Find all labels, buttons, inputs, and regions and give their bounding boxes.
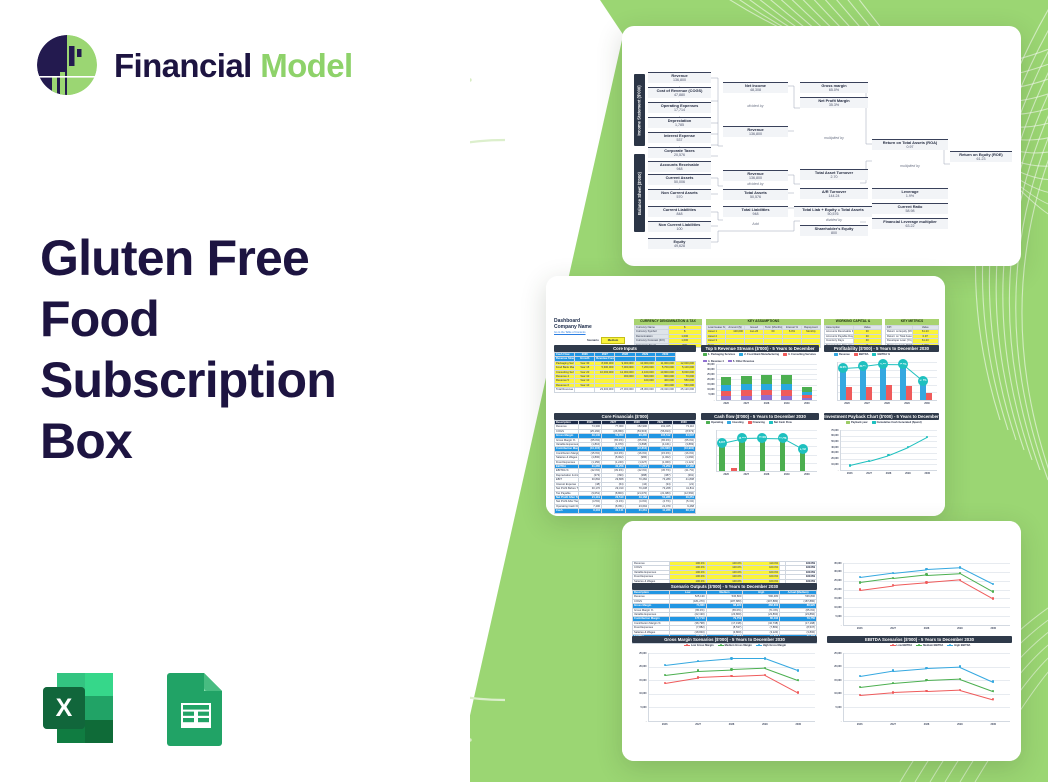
- cash-flow-title: Cash flow ($'000) - 5 Years to December …: [701, 413, 819, 420]
- legend-item: High EBITDA: [947, 644, 970, 647]
- table-cell: Return on Total Assets (ROA): [886, 334, 913, 338]
- legend-item: Net Cash Flow: [769, 421, 792, 424]
- table-cell: Loan/Lease Name: [707, 326, 726, 330]
- legend-label: EBITDA %: [877, 353, 890, 356]
- node-interest-expense: Interest Expense537: [648, 132, 711, 143]
- legend-swatch: [739, 353, 743, 355]
- legend-label: Medium EBITDA: [923, 644, 943, 647]
- legend-item: Operating: [706, 421, 723, 424]
- table-cell: Contribution Margin: [555, 447, 579, 451]
- legend-label: High EBITDA: [954, 644, 970, 647]
- legend-swatch: [703, 353, 707, 355]
- title-line-2: Food: [40, 289, 440, 350]
- table-cell: [575, 388, 595, 392]
- node-net-profit-margin: Net Profit Margin35.3%: [800, 97, 868, 108]
- scenario-outputs-title: Scenario Outputs ($'000) - 5 Years to De…: [632, 583, 817, 590]
- gross-margin-scenarios-chart: 25,00020,00015,00010,0005,000-2026202720…: [632, 651, 817, 729]
- node-leverage: Leverage1.9%: [872, 188, 948, 199]
- operator-divided-by-3: divided by: [800, 218, 868, 222]
- dupont-analysis-screenshot[interactable]: Income Statement ($'000) Balance Sheet (…: [622, 26, 1021, 266]
- scenario-actual-table: 100.0%100.0%100.0%100.0%100.0%: [785, 561, 817, 584]
- legend-swatch: [769, 421, 773, 423]
- table-cell: Consulting Services: [555, 370, 575, 374]
- operator-add: Add: [723, 222, 788, 226]
- core-inputs-table: Cash Flow20262027202820292030Revenue Str…: [554, 352, 696, 393]
- table-cell: Net Profit After Tax %: [555, 500, 579, 504]
- financial-model-logo-icon: [34, 32, 100, 98]
- legend-label: Revenue: [839, 353, 850, 356]
- node-opex: Operating Expenses17,714: [648, 102, 711, 113]
- core-financials-title: Core Financials ($'000): [554, 413, 696, 420]
- table-cell: Revenue Streams: [555, 357, 575, 361]
- legend-label: Investing: [732, 421, 743, 424]
- cash-flow-chart: 202620272028202920308,40410,25810,46110,…: [703, 428, 819, 478]
- legend-label: EBITDA: [859, 353, 869, 356]
- poster-canvas: Financial Model Gluten Free Food Subscri…: [0, 0, 1048, 782]
- node-roa: Return on Total Assets (ROA)0.97: [872, 139, 948, 150]
- node-total-assets: Total Assets50,576: [723, 189, 788, 200]
- scenario-selector[interactable]: Medium: [601, 337, 625, 344]
- legend-swatch: [846, 421, 850, 423]
- table-cell: Gross Margin %: [555, 438, 579, 442]
- title-line-3: Subscription: [40, 350, 440, 411]
- node-depreciation: Depreciation1,785: [648, 117, 711, 128]
- node-non-current-liabilities: Non Current Liabilities100: [648, 221, 711, 232]
- operator-multiplied-by: multiplied by: [800, 136, 868, 140]
- table-cell: Salaries & Wages: [555, 456, 579, 460]
- legend-label: 3. Consulting Services: [788, 353, 816, 356]
- legend-swatch: [706, 421, 710, 423]
- brand-wordmark: Financial Model: [114, 49, 353, 82]
- table-cell: Contribution Margin %: [555, 451, 579, 455]
- operator-divided-by-2: divided by: [723, 182, 788, 186]
- key-assumptions-header: KEY ASSUMPTIONS: [706, 319, 821, 325]
- legend-swatch: [748, 421, 752, 423]
- table-cell: Currency Forecast (F/X): [635, 339, 669, 343]
- legend-swatch: [947, 645, 953, 646]
- legend-swatch: [890, 645, 896, 646]
- node-current-liabilities: Current Liabilities848: [648, 206, 711, 217]
- node-net-income: Net Income48,308: [723, 82, 788, 93]
- currency-denomination-header: CURRENCY DENOMINATION & TAX: [634, 319, 702, 325]
- table-cell: Revenue Forecast for years 1: [595, 357, 615, 361]
- legend-swatch: [756, 645, 762, 646]
- table-row: Cash8,40430,14131,26141,28868,132: [555, 509, 696, 513]
- legend-item: Revenue: [834, 353, 850, 356]
- svg-text:X: X: [56, 694, 73, 722]
- legend-swatch: [718, 645, 724, 646]
- legend-item: Medium EBITDA: [916, 644, 943, 647]
- node-total-liab-equity: Total Liab + Equity = Total Assets50,576: [794, 206, 872, 217]
- legend-item: Financing: [748, 421, 765, 424]
- revenue-streams-chart: 35,00030,00025,00020,00015,00010,0005,00…: [703, 362, 819, 407]
- profitability-title: Profitability ($'000) - 5 Years to Decem…: [824, 345, 939, 352]
- brand-word-model: Model: [260, 47, 352, 84]
- table-cell: Operating Cash Flows: [555, 504, 579, 508]
- investment-payback-chart: 70,00060,00050,00040,00030,00020,00010,0…: [824, 428, 939, 478]
- gross-margin-title: Gross Margin Scenarios ($'000) - 5 Years…: [632, 636, 817, 643]
- legend-item: Cumulative Cash Generated (Spend): [872, 421, 922, 424]
- table-cell: 8,404: [578, 509, 602, 513]
- legend-label: Medium Gross Margin: [725, 644, 752, 647]
- legend-swatch: [783, 353, 787, 355]
- dashboard-screenshot[interactable]: Dashboard Company Name Go to the Table o…: [546, 276, 945, 516]
- operator-multiplied-by-2: multiplied by: [872, 164, 948, 168]
- node-total-asset-turnover: Total Asset Turnover2.70: [800, 169, 868, 180]
- page-title: Gluten Free Food Subscription Box: [40, 228, 440, 472]
- legend-swatch: [727, 421, 731, 423]
- table-cell: Term (Months): [764, 326, 783, 330]
- table-cell: 27,300,000: [615, 388, 635, 392]
- legend-label: Low EBITDA: [897, 644, 913, 647]
- ebitda-title: EBITDA Scenarios ($'000) - 5 Years to De…: [827, 636, 1012, 643]
- table-cell: Food Bank Manufacturing: [555, 366, 575, 370]
- legend-item: EBITDA %: [872, 353, 890, 356]
- node-accounts-receivable: Accounts Receivable948: [648, 161, 711, 172]
- legend-label: Operating: [711, 421, 723, 424]
- node-total-liabilities: Total Liabilities948: [723, 206, 788, 217]
- table-cell: Return on Equity (ROE): [886, 330, 913, 334]
- legend-label: Cumulative Cash Generated (Spend): [877, 421, 922, 424]
- table-cell: 30,141: [602, 509, 626, 513]
- node-ar-turnover: A/R Turnover144.24: [800, 188, 868, 199]
- table-cell: 31,261: [625, 509, 649, 513]
- table-cell: Repayment: [802, 326, 821, 330]
- revenue-streams-title: Top 5 Revenue Streams ($'000) - 5 Years …: [701, 345, 819, 352]
- legend-item: 3. Consulting Services: [783, 353, 816, 356]
- legend-item: Investing: [727, 421, 743, 424]
- ebitda-scenarios-chart: 25,00020,00015,00010,0005,000-2026202720…: [827, 651, 1012, 729]
- table-cell: Developer Loan (Yrs): [886, 339, 913, 343]
- legend-swatch: [684, 645, 690, 646]
- table-cell: Variable Expenses: [555, 443, 579, 447]
- brand-word-financial: Financial: [114, 47, 260, 84]
- brand-logo: Financial Model: [34, 32, 353, 98]
- legend-swatch: [834, 353, 838, 355]
- left-content-panel: Financial Model Gluten Free Food Subscri…: [0, 0, 470, 782]
- legend-item: Low EBITDA: [890, 644, 913, 647]
- operator-divided-by: divided by: [723, 104, 788, 108]
- table-cell: 41,288: [649, 509, 673, 513]
- payback-title: Investment Payback Chart ($'000) - 5 Yea…: [824, 413, 939, 420]
- key-metrics-header: KEY METRICS: [885, 319, 939, 325]
- scenario-overview-chart: 35,00030,00025,00020,00015,00010,0005,00…: [827, 561, 1012, 633]
- node-non-current-assets: Non Current Assets570: [648, 189, 711, 200]
- legend-item: 2. Food Bank Manufacturing: [739, 353, 779, 356]
- legend-label: Payback year: [851, 421, 868, 424]
- profitability-legend: RevenueEBITDAEBITDA %: [834, 353, 939, 356]
- table-cell: Depreciation & Amortisation: [555, 473, 579, 477]
- legend-item: 1. Packaging Services: [703, 353, 735, 356]
- table-cell: 23,300,000: [595, 388, 615, 392]
- working-capital-header: WORKING CAPITAL & DEPRECIATION: [824, 319, 882, 325]
- legend-label: Financing: [753, 421, 765, 424]
- scenario-label: Scenario: [587, 338, 599, 342]
- legend-item: Medium Gross Margin: [718, 644, 752, 647]
- scenario-analysis-screenshot[interactable]: Revenue100.0%100.0%110.0%100.0%COGS100.0…: [622, 521, 1021, 761]
- table-cell: Accounts Receivable Days: [825, 330, 854, 334]
- title-line-1: Gluten Free: [40, 228, 440, 289]
- profitability-chart: 2026202720282029203042.0%39.3%42.0%45.7%…: [824, 360, 939, 407]
- node-current-ratio: Current Ratio58.98: [872, 203, 948, 214]
- ebitda-legend: Low EBITDAMedium EBITDAHigh EBITDA: [850, 644, 1010, 647]
- cash-flow-legend: OperatingInvestingFinancingNet Cash Flow: [706, 421, 819, 424]
- table-cell: 28,300,000: [635, 388, 655, 392]
- node-shareholders-equity: Shareholder's Equity800: [800, 225, 868, 236]
- legend-item: High Gross Margin: [756, 644, 786, 647]
- table-cell: Accounts Payable Days: [825, 334, 854, 338]
- legend-item: Low Gross Margin: [684, 644, 714, 647]
- table-cell: 29,320,000: [655, 388, 675, 392]
- legend-label: Net Cash Flow: [774, 421, 792, 424]
- node-financial-leverage-multiplier: Financial Leverage multiplier63.22: [872, 218, 948, 229]
- node-cogs: Cost of Revenue (COGS)47,880: [648, 87, 711, 98]
- node-roe: Return on Equity (ROE)61.23: [950, 151, 1012, 162]
- node-equity: Equity49,628: [648, 238, 711, 249]
- node-revenue: Revenue136,800: [648, 72, 711, 83]
- core-financials-table: Description20262027202820292030Revenue74…: [554, 420, 696, 514]
- dashboard-subtitle: Company Name: [554, 324, 592, 330]
- legend-swatch: [854, 353, 858, 355]
- table-cell: Net Profit After Tax: [555, 495, 579, 499]
- table-cell: Interest Expense: [555, 482, 579, 486]
- legend-label: 2. Food Bank Manufacturing: [744, 353, 779, 356]
- table-cell: 25,120,000: [675, 388, 695, 392]
- node-current-assets: Current Assets50,006: [648, 174, 711, 185]
- payback-legend: Payback yearCumulative Cash Generated (S…: [846, 421, 939, 424]
- node-revenue-3: Revenue136,800: [723, 170, 788, 181]
- core-inputs-title: Core Inputs: [554, 345, 696, 352]
- table-row: Total Revenue 23,300,00027,300,00028,300…: [555, 388, 696, 392]
- format-badges: X: [33, 663, 238, 753]
- table-cell: Cash: [555, 509, 579, 513]
- node-corporate-taxes: Corporate Taxes20,576: [648, 147, 711, 158]
- table-cell: Fixed Expenses: [555, 460, 579, 464]
- microsoft-excel-icon[interactable]: X: [33, 663, 123, 753]
- toc-link[interactable]: Go to the Table of Contents: [554, 331, 586, 334]
- node-gross-margin: Gross margin65.0%: [800, 82, 868, 93]
- legend-swatch: [872, 353, 876, 355]
- legend-item: Payback year: [846, 421, 868, 424]
- table-cell: Total Revenue: [555, 388, 575, 392]
- node-revenue-2: Revenue136,800: [723, 126, 788, 137]
- table-cell: Net Profit Before Tax: [555, 487, 579, 491]
- legend-swatch: [872, 421, 876, 423]
- title-line-4: Box: [40, 411, 440, 472]
- google-sheets-icon[interactable]: [148, 663, 238, 753]
- legend-label: High Gross Margin: [763, 644, 786, 647]
- legend-swatch: [916, 645, 922, 646]
- legend-item: EBITDA: [854, 353, 869, 356]
- legend-label: Low Gross Margin: [691, 644, 714, 647]
- table-cell: Packaging Services: [555, 361, 575, 365]
- gross-margin-legend: Low Gross MarginMedium Gross MarginHigh …: [655, 644, 815, 647]
- legend-label: 1. Packaging Services: [708, 353, 735, 356]
- table-cell: 68,132: [672, 509, 696, 513]
